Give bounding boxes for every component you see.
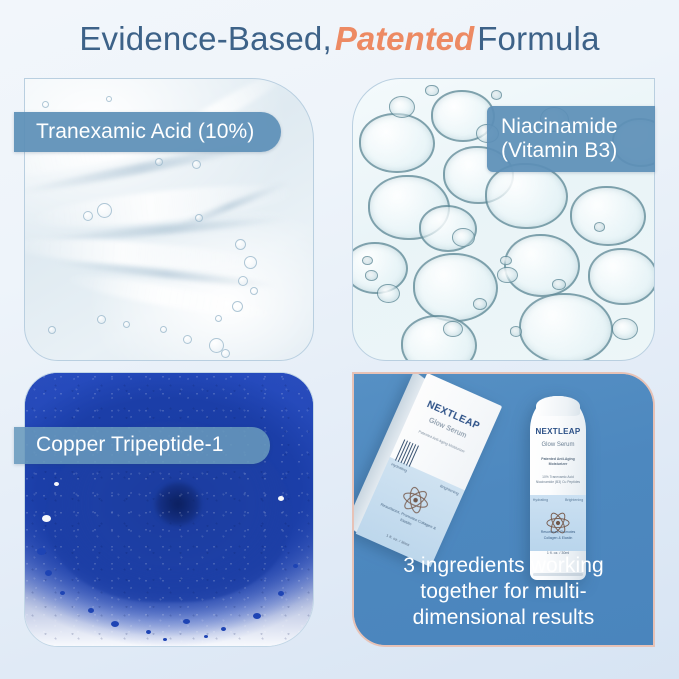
tube-product-name: Glow Serum (533, 442, 583, 448)
title-part-one: Evidence-Based, (79, 20, 331, 58)
tube-tag-left: Hydrating (533, 498, 548, 502)
title-part-three: Formula (477, 20, 599, 58)
label-tranexamic-acid: Tranexamic Acid (10%) (14, 112, 281, 152)
tube-brand-name: NEXTLEAP (533, 427, 583, 436)
blue-powder-image (25, 373, 313, 646)
tube-tag-right: Brightening (565, 498, 583, 502)
label-niacinamide-line1: Niacinamide (501, 115, 655, 139)
title-accent-patented: Patented (332, 20, 477, 58)
tube-claim-text: Patented Anti-Aging Moisturizer (535, 457, 581, 468)
label-copper-text: Copper Tripeptide-1 (36, 433, 270, 457)
tube-benefit-text: Resurfaces, Promotes Collagen & Elastin (534, 530, 582, 541)
label-niacinamide-line2: (Vitamin B3) (501, 139, 655, 163)
tube-ingredients-text: 10% Tranexamic Acid Niacinamide (B3) Cu … (534, 475, 582, 485)
infographic-root: Evidence-Based, Patented Formula (0, 0, 679, 679)
label-copper-tripeptide: Copper Tripeptide-1 (14, 427, 270, 464)
panel-copper-tripeptide (24, 372, 314, 647)
label-niacinamide: Niacinamide (Vitamin B3) (487, 106, 655, 172)
label-tranexamic-text: Tranexamic Acid (10%) (36, 120, 281, 144)
panel-product-summary: NEXTLEAP Glow Serum Patented Anti-Aging … (352, 372, 655, 647)
page-title: Evidence-Based, Patented Formula (0, 14, 679, 64)
tube-tags: Hydrating Brightening (533, 498, 583, 502)
product-caption: 3 ingredients working together for multi… (354, 553, 653, 631)
